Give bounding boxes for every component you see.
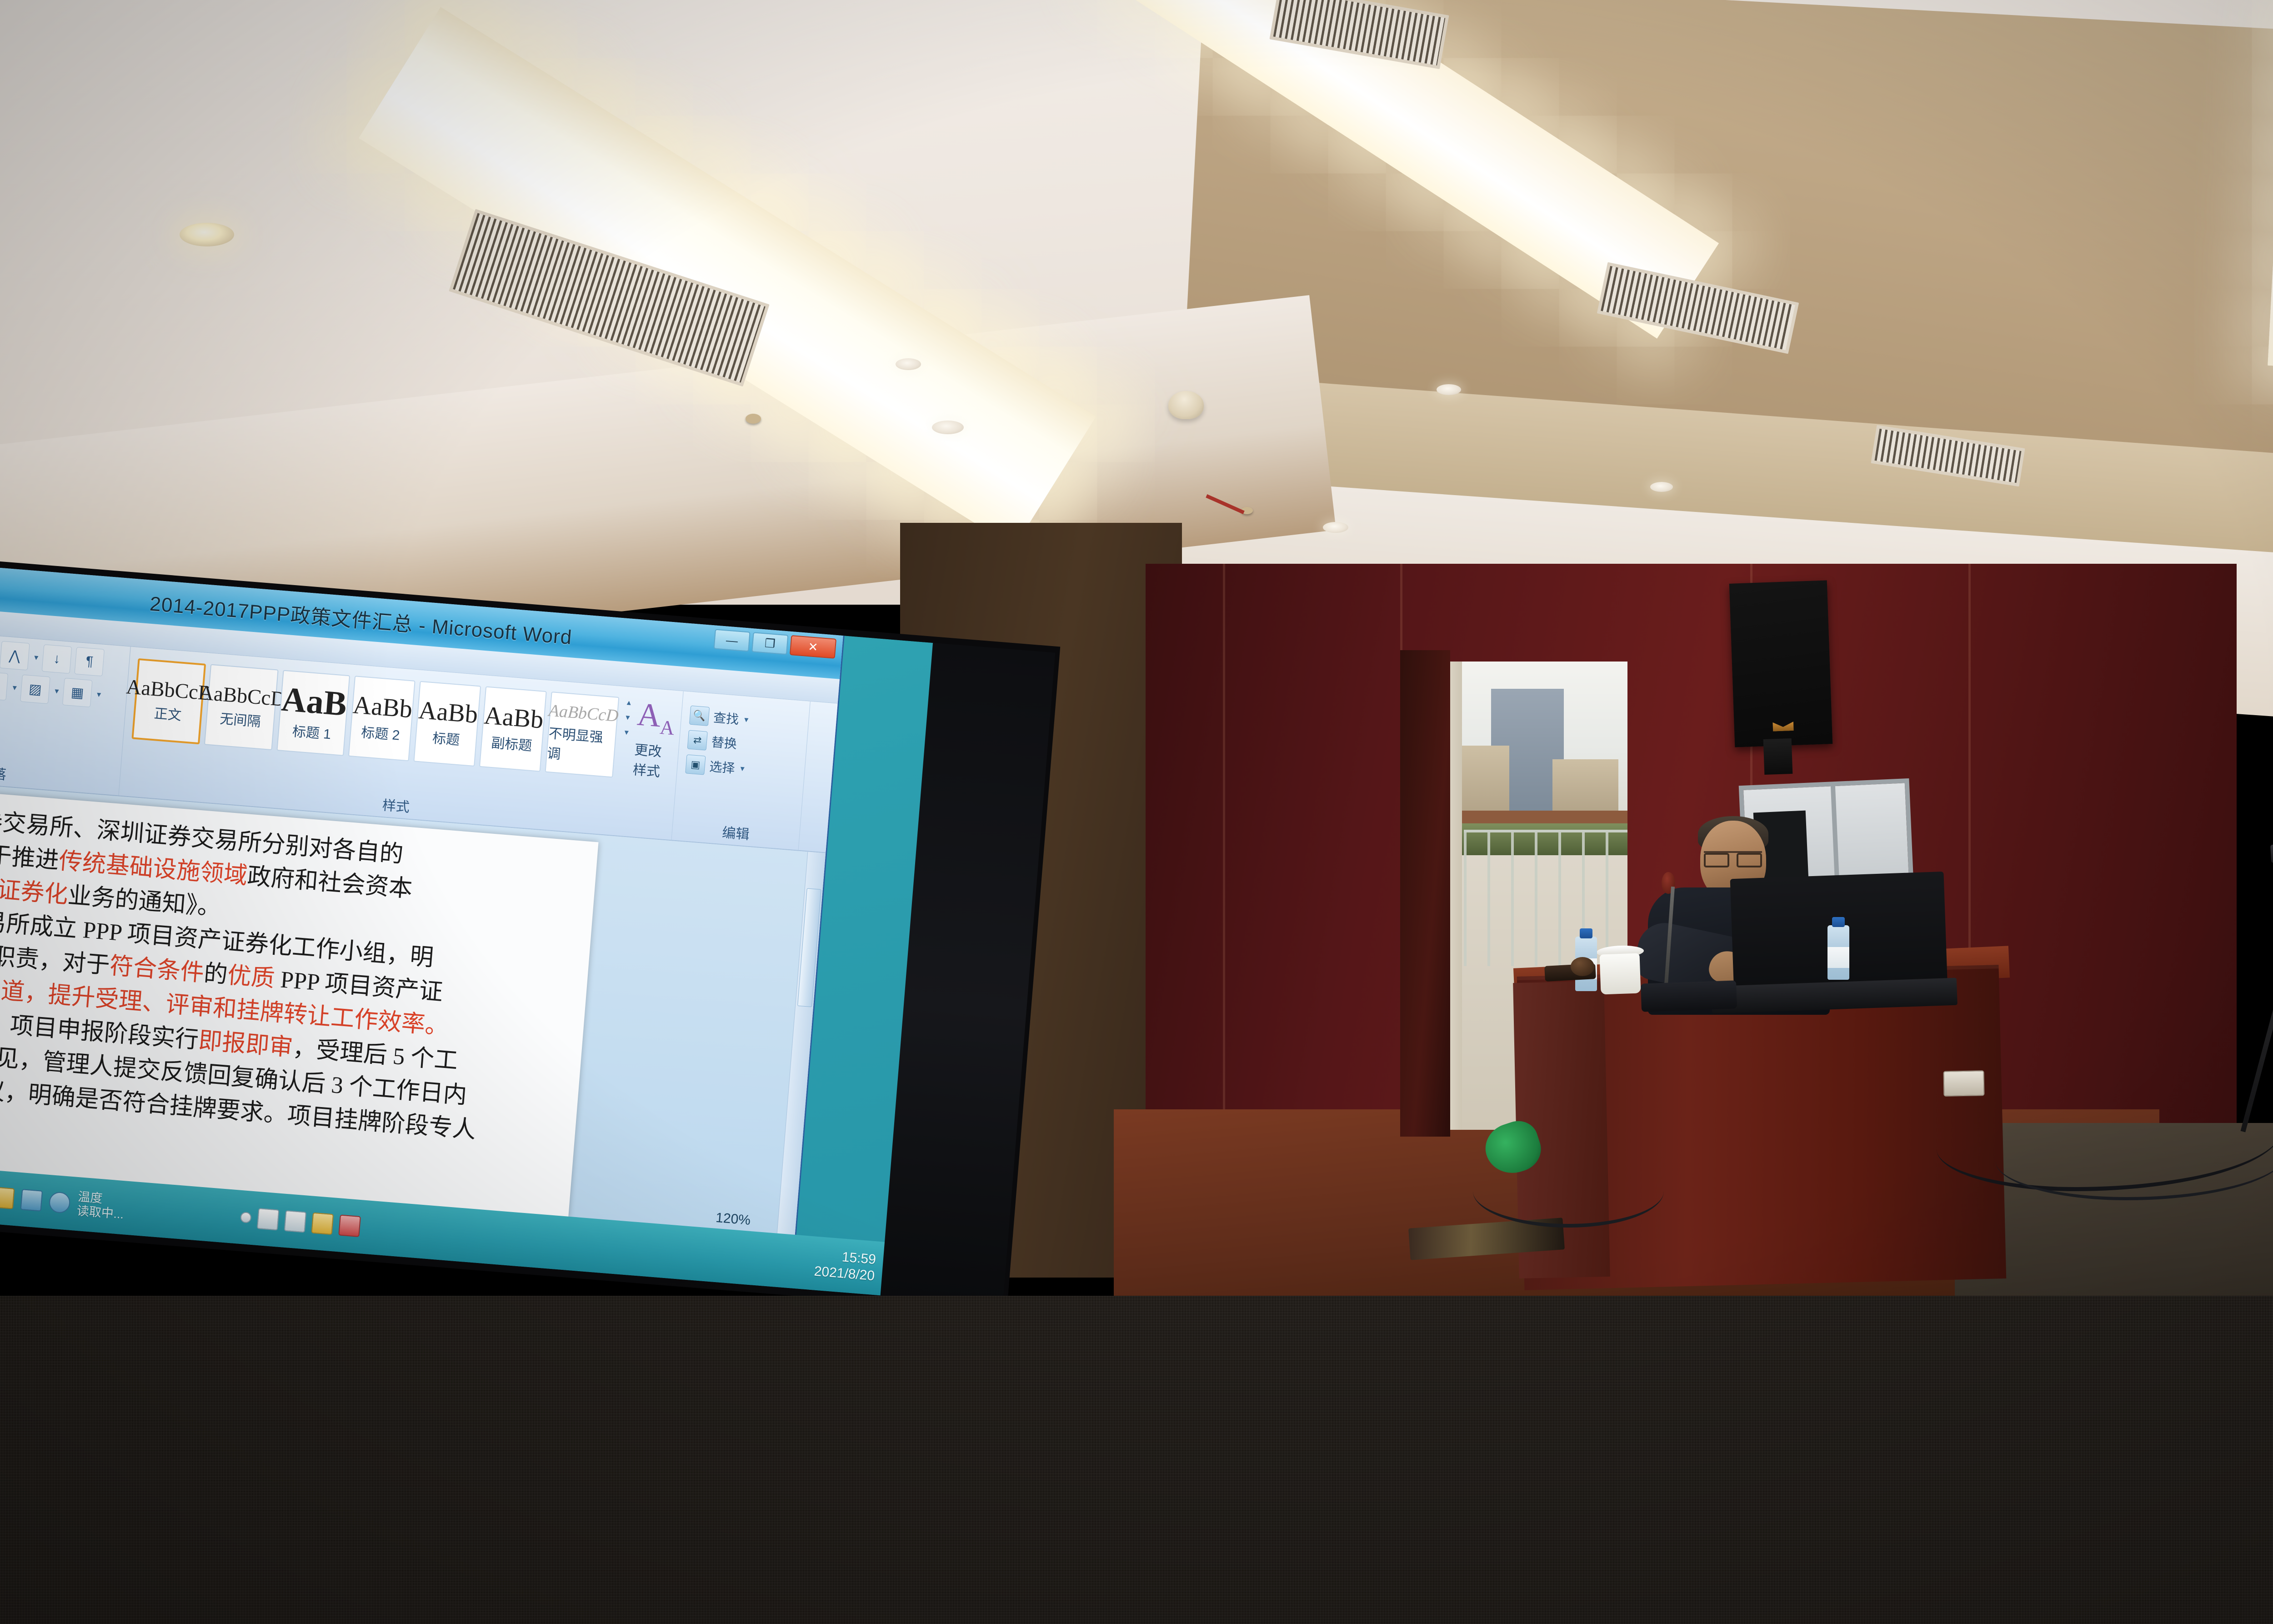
highlighted-text: 优质 — [226, 962, 275, 992]
show-formatting-marks-icon[interactable]: ¶ — [75, 647, 105, 677]
chevron-down-icon[interactable]: ▾ — [34, 652, 39, 662]
sort-icon[interactable]: ↓ — [42, 644, 72, 674]
more-styles-icon[interactable]: ▾ — [624, 727, 629, 737]
style-tile-heading1[interactable]: AaB 标题 1 — [276, 670, 350, 756]
smoke-detector-icon — [1168, 391, 1204, 419]
chevron-down-icon[interactable]: ▾ — [96, 689, 101, 699]
tray-overflow-icon[interactable] — [240, 1212, 252, 1223]
style-tile-zhengwen[interactable]: AaBbCcD 正文 — [131, 658, 206, 744]
highlighted-text: 即报即审 — [197, 1028, 294, 1061]
chevron-up-icon[interactable]: ▴ — [626, 697, 631, 707]
style-sample: AaB — [280, 682, 348, 722]
balcony-railing — [1464, 830, 1627, 966]
replace-button[interactable]: ⇄ 替换 — [687, 730, 799, 758]
style-label: 无间隔 — [219, 707, 261, 731]
screen-surface: 2014-2017PPP政策文件汇总 - Microsoft Word — ❐ … — [0, 566, 934, 1296]
body-text: 的 — [203, 961, 228, 988]
microphone-base — [1641, 980, 1737, 1012]
wall-speaker — [1729, 580, 1832, 747]
street-band — [1437, 811, 1627, 823]
tripod-head — [2270, 842, 2273, 863]
building-near — [1455, 746, 1509, 812]
style-tile-subtitle[interactable]: AaBb 副标题 — [479, 686, 546, 772]
downlight-icon — [896, 358, 921, 370]
style-label: 标题 — [432, 727, 461, 749]
ribbon-group-editing: 🔍 查找 ▾ ⇄ 替换 ▣ 选择 ▾ — [671, 691, 810, 850]
change-styles-label: 更改样式 — [632, 739, 674, 782]
browser-icon[interactable] — [49, 1191, 71, 1214]
bottle-label — [1827, 947, 1849, 968]
gavel-head — [1571, 957, 1594, 976]
style-sample: AaBb — [352, 692, 413, 722]
replace-label: 替换 — [711, 732, 738, 752]
minimize-button[interactable]: — — [713, 629, 750, 652]
style-sample: AaBb — [483, 702, 545, 732]
borders-icon[interactable]: ▦ — [62, 678, 93, 707]
style-label: 标题 2 — [360, 721, 401, 744]
temperature-widget[interactable]: 温度 读取中... — [76, 1190, 125, 1222]
highlighted-text: 符合条件 — [109, 953, 205, 986]
shading-icon[interactable]: ▨ — [20, 675, 50, 704]
teacup — [1599, 953, 1641, 994]
scene-root: 2014-2017PPP政策文件汇总 - Microsoft Word — ❐ … — [0, 0, 2273, 1624]
style-tile-heading2[interactable]: AaBb 标题 2 — [348, 676, 415, 761]
style-label: 不明显强调 — [546, 722, 616, 767]
speaker-mount-bracket — [1763, 738, 1793, 775]
style-label: 标题 1 — [292, 720, 332, 743]
style-sample: AaBb — [418, 697, 479, 727]
style-tile-wujiange[interactable]: AaBbCcD 无间隔 — [204, 664, 279, 750]
flag-icon[interactable] — [338, 1214, 361, 1237]
style-tile-title[interactable]: AaBb 标题 — [414, 681, 481, 767]
volume-icon[interactable] — [284, 1210, 306, 1233]
floor-cable — [1473, 1155, 1664, 1228]
document-text: ，上海证券交易所、深圳证券交易所分别对各自的布了《关于推进传统基础设施领域政府和… — [0, 784, 599, 1155]
word-window[interactable]: 2014-2017PPP政策文件汇总 - Microsoft Word — ❐ … — [0, 566, 843, 1266]
chevron-down-icon[interactable]: ▾ — [744, 715, 749, 725]
battery-icon[interactable] — [311, 1213, 334, 1235]
select-icon: ▣ — [685, 754, 706, 775]
eyeglasses-icon — [1704, 851, 1762, 863]
style-sample: AaBbCcD — [548, 702, 619, 725]
change-styles-button[interactable]: AA 更改样式 — [632, 698, 676, 782]
downlight-icon — [1650, 482, 1673, 492]
window-controls: — ❐ ✕ — [713, 629, 836, 658]
shield-icon[interactable] — [257, 1208, 280, 1231]
style-label: 正文 — [154, 702, 182, 724]
door-leaf[interactable] — [1400, 650, 1450, 1137]
search-icon: 🔍 — [689, 706, 710, 726]
editing-items: 🔍 查找 ▾ ⇄ 替换 ▣ 选择 ▾ — [685, 697, 801, 782]
downlight-icon — [1323, 522, 1348, 533]
system-tray — [240, 1207, 361, 1237]
styles-scroll-controls: ▴ ▾ ▾ — [621, 697, 634, 738]
style-sample: AaBbCcD — [198, 682, 286, 710]
letterbox-bar — [0, 1296, 2273, 1624]
document-page[interactable]: ，上海证券交易所、深圳证券交易所分别对各自的布了《关于推进传统基础设施领域政府和… — [0, 784, 599, 1218]
network-icon[interactable] — [20, 1189, 43, 1212]
style-label: 副标题 — [491, 732, 533, 755]
notification-icon[interactable] — [0, 1187, 15, 1209]
ribbon-group-label-paragraph: 段落 — [0, 752, 120, 793]
chevron-down-icon[interactable]: ▾ — [12, 682, 17, 692]
find-button[interactable]: 🔍 查找 ▾ — [689, 706, 801, 733]
downlight-icon — [180, 223, 234, 246]
select-label: 选择 — [709, 757, 736, 777]
close-button[interactable]: ✕ — [790, 635, 836, 659]
downlight-icon — [932, 421, 964, 434]
highlighted-text: 资产证券化 — [0, 873, 69, 908]
asian-layout-icon[interactable]: ⋀ — [0, 641, 30, 671]
downlight-icon — [1437, 384, 1461, 395]
signal-cable — [1996, 1114, 2273, 1200]
chevron-down-icon[interactable]: ▾ — [740, 763, 745, 773]
document-area[interactable]: ，上海证券交易所、深圳证券交易所分别对各自的布了《关于推进传统基础设施领域政府和… — [0, 776, 826, 1243]
restore-button[interactable]: ❐ — [751, 632, 788, 655]
water-bottle — [1827, 925, 1849, 980]
replace-icon: ⇄ — [687, 730, 708, 751]
line-spacing-icon[interactable]: ↕ — [0, 671, 8, 701]
ribbon-group-paragraph: ▾ ▾ ⇤ ⇥ ⋀ ▾ ↓ ¶ — [0, 627, 131, 796]
chevron-down-icon[interactable]: ▾ — [55, 686, 60, 696]
find-label: 查找 — [713, 708, 740, 728]
projection-screen: 2014-2017PPP政策文件汇总 - Microsoft Word — ❐ … — [0, 559, 1060, 1327]
taskbar-clock[interactable]: 15:59 2021/8/20 — [813, 1247, 876, 1284]
change-styles-icon: AA — [636, 699, 676, 737]
select-button[interactable]: ▣ 选择 ▾ — [685, 754, 797, 782]
speaker-logo-icon — [1772, 722, 1794, 732]
style-tile-subtle-emphasis[interactable]: AaBbCcD 不明显强调 — [545, 692, 619, 777]
chevron-down-icon[interactable]: ▾ — [625, 712, 630, 722]
building-right — [1552, 759, 1618, 812]
zoom-level-indicator[interactable]: 120% — [715, 1210, 751, 1228]
sprinkler-head-icon — [746, 414, 761, 424]
